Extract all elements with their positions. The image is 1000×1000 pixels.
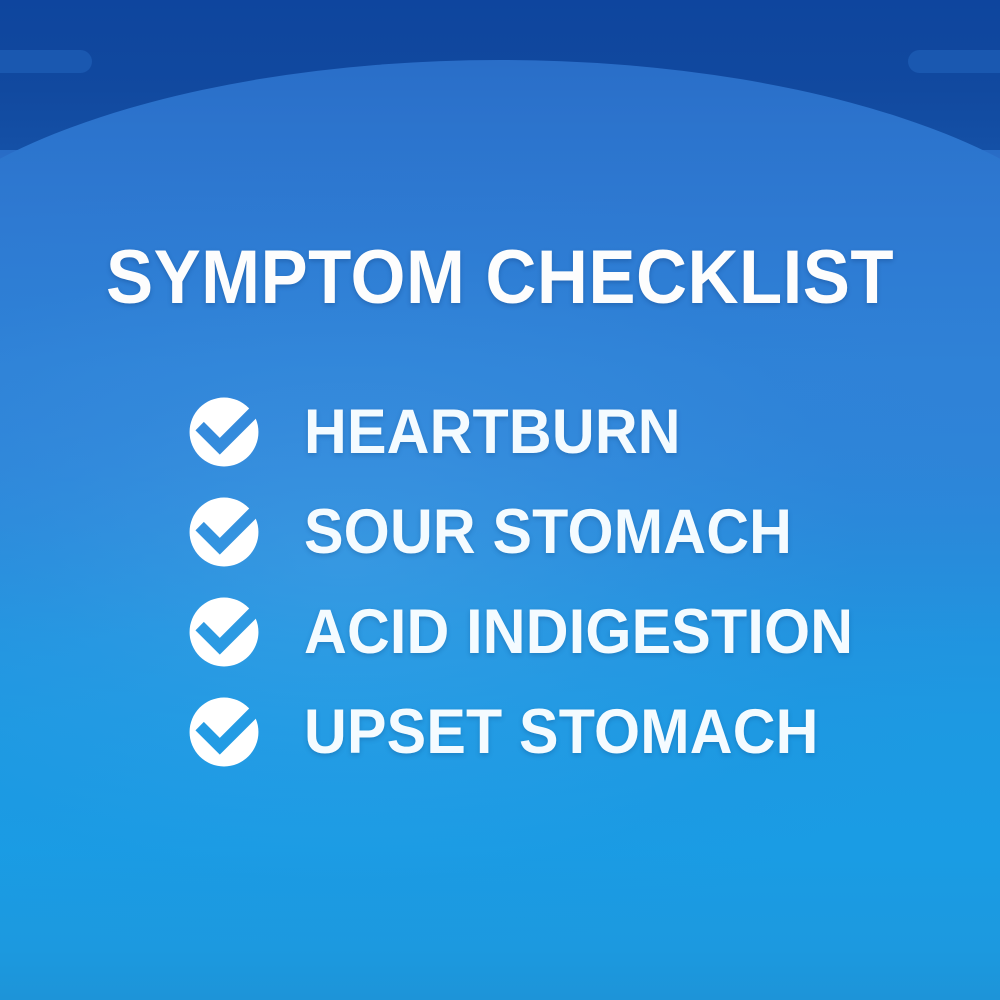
list-item-label: HEARTBURN [304,399,904,465]
checklist: HEARTBURN SOUR STOMACH [182,382,942,782]
check-circle-icon [182,590,266,674]
list-item[interactable]: ACID INDIGESTION [182,582,942,682]
list-item[interactable]: UPSET STOMACH [182,682,942,782]
check-circle-icon [182,490,266,574]
list-item[interactable]: HEARTBURN [182,382,942,482]
list-item[interactable]: SOUR STOMACH [182,482,942,582]
poster-content: SYMPTOM CHECKLIST HEARTBURN [0,0,1000,1000]
check-circle-icon [182,690,266,774]
list-item-label: SOUR STOMACH [304,499,904,565]
list-item-label: UPSET STOMACH [304,699,904,765]
page-title: SYMPTOM CHECKLIST [35,236,965,320]
symptom-checklist-poster: SYMPTOM CHECKLIST HEARTBURN [0,0,1000,1000]
check-circle-icon [182,390,266,474]
list-item-label: ACID INDIGESTION [304,599,904,665]
